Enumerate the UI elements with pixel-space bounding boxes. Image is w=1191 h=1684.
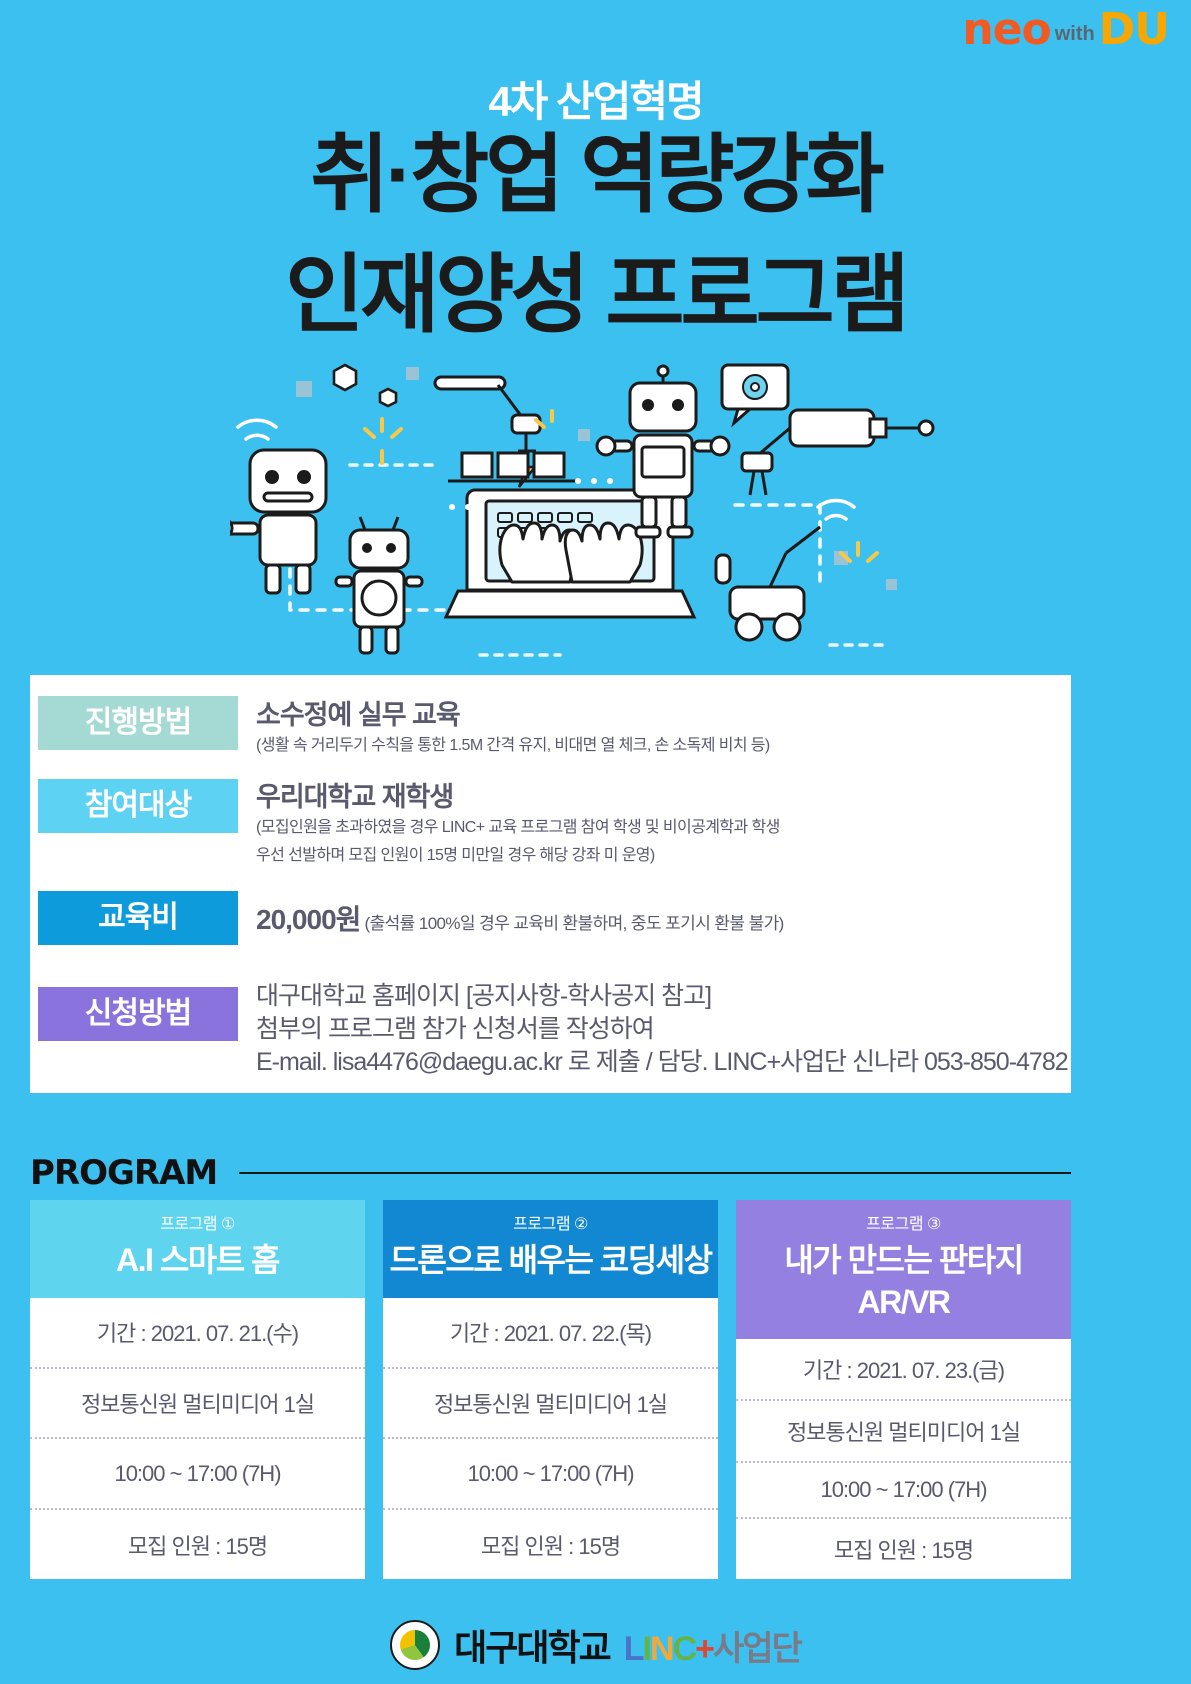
info-tag-target: 참여대상 bbox=[38, 779, 238, 833]
with-wordmark: with bbox=[1055, 24, 1095, 44]
info-body-fee: 20,000원 (출석률 100%일 경우 교육비 환불하며, 중도 포기시 환… bbox=[238, 870, 1071, 938]
daegu-university-name: 대구대학교 bbox=[454, 1619, 610, 1671]
info-row-method: 진행방법 소수정예 실무 교육 (생활 속 거리두기 수칙을 통한 1.5M 간… bbox=[30, 675, 1071, 771]
program-card-details: 기간 : 2021. 07. 23.(금) 정보통신원 멀티미디어 1실 10:… bbox=[736, 1339, 1071, 1579]
fee-note: (출석률 100%일 경우 교육비 환불하며, 중도 포기시 환불 불가) bbox=[365, 914, 784, 933]
footer-logos: 대구대학교 LINC+사업단 bbox=[0, 1606, 1191, 1684]
info-body-target: 우리대학교 재학생 (모집인원을 초과하였을 경우 LINC+ 교육 프로그램 … bbox=[238, 771, 1071, 870]
program-card-date: 기간 : 2021. 07. 21.(수) bbox=[30, 1298, 365, 1367]
linc-letter-c: C bbox=[673, 1630, 696, 1668]
program-heading-rule bbox=[239, 1172, 1071, 1174]
seal-inner-mark bbox=[400, 1630, 430, 1660]
info-row-apply: 신청방법 대구대학교 홈페이지 [공지사항-학사공지 참고] 첨부의 프로그램 … bbox=[30, 966, 1071, 1093]
program-card-details: 기간 : 2021. 07. 22.(목) 정보통신원 멀티미디어 1실 10:… bbox=[383, 1298, 718, 1580]
target-main-text: 우리대학교 재학생 bbox=[256, 771, 1071, 814]
linc-letter-n: N bbox=[650, 1630, 673, 1668]
program-card-list: 프로그램 ① A.I 스마트 홈 기간 : 2021. 07. 21.(수) 정… bbox=[30, 1200, 1071, 1579]
poster-root: neo with DU 4차 산업혁명 취·창업 역량강화 인재양성 프로그램 bbox=[0, 0, 1191, 1684]
fee-amount: 20,000원 bbox=[256, 904, 360, 935]
program-heading: PROGRAM bbox=[30, 1153, 1071, 1193]
linc-suffix: 사업단 bbox=[713, 1630, 801, 1668]
program-card-date: 기간 : 2021. 07. 22.(목) bbox=[383, 1298, 718, 1367]
title-line-2: 인재양성 프로그램 bbox=[0, 250, 1191, 340]
title-line-1: 취·창업 역량강화 bbox=[0, 130, 1191, 220]
info-body-apply: 대구대학교 홈페이지 [공지사항-학사공지 참고] 첨부의 프로그램 참가 신청… bbox=[238, 966, 1071, 1093]
info-body-method: 소수정예 실무 교육 (생활 속 거리두기 수칙을 통한 1.5M 간격 유지,… bbox=[238, 675, 1071, 760]
info-row-target: 참여대상 우리대학교 재학생 (모집인원을 초과하였을 경우 LINC+ 교육 … bbox=[30, 771, 1071, 870]
program-card-title: 내가 만드는 판타지 AR/VR bbox=[742, 1240, 1065, 1323]
target-sub-text-1: (모집인원을 초과하였을 경우 LINC+ 교육 프로그램 참여 학생 및 비이… bbox=[256, 814, 1071, 842]
program-card-place: 정보통신원 멀티미디어 1실 bbox=[736, 1399, 1071, 1461]
program-card-title: 드론으로 배우는 코딩세상 bbox=[389, 1240, 712, 1282]
method-main-text: 소수정예 실무 교육 bbox=[256, 675, 1071, 732]
du-wordmark: DU bbox=[1099, 10, 1169, 50]
program-card-number: 프로그램 ① bbox=[36, 1210, 359, 1234]
program-card-header: 프로그램 ③ 내가 만드는 판타지 AR/VR bbox=[736, 1200, 1071, 1339]
program-card[interactable]: 프로그램 ② 드론으로 배우는 코딩세상 기간 : 2021. 07. 22.(… bbox=[383, 1200, 718, 1579]
program-card-place: 정보통신원 멀티미디어 1실 bbox=[383, 1367, 718, 1438]
program-heading-label: PROGRAM bbox=[30, 1153, 217, 1193]
info-row-fee: 교육비 20,000원 (출석률 100%일 경우 교육비 환불하며, 중도 포… bbox=[30, 870, 1071, 966]
program-card[interactable]: 프로그램 ① A.I 스마트 홈 기간 : 2021. 07. 21.(수) 정… bbox=[30, 1200, 365, 1579]
neo-with-du-logo: neo with DU bbox=[962, 10, 1169, 50]
program-card-date: 기간 : 2021. 07. 23.(금) bbox=[736, 1339, 1071, 1399]
program-card-number: 프로그램 ③ bbox=[742, 1210, 1065, 1234]
info-panel: 진행방법 소수정예 실무 교육 (생활 속 거리두기 수칙을 통한 1.5M 간… bbox=[30, 675, 1071, 1093]
program-card-capacity: 모집 인원 : 15명 bbox=[383, 1508, 718, 1579]
target-sub-text-2: 우선 선발하며 모집 인원이 15명 미만일 경우 해당 강좌 미 운영) bbox=[256, 842, 1071, 870]
fee-line: 20,000원 (출석률 100%일 경우 교육비 환불하며, 중도 포기시 환… bbox=[256, 870, 1071, 938]
industry-robots-illustration bbox=[230, 355, 960, 675]
program-card-time: 10:00 ~ 17:00 (7H) bbox=[30, 1437, 365, 1508]
program-card-time: 10:00 ~ 17:00 (7H) bbox=[383, 1437, 718, 1508]
linc-plus-logo: LINC+사업단 bbox=[624, 1621, 801, 1670]
program-card-details: 기간 : 2021. 07. 21.(수) 정보통신원 멀티미디어 1실 10:… bbox=[30, 1298, 365, 1580]
program-card-title: A.I 스마트 홈 bbox=[36, 1240, 359, 1282]
linc-letter-i: I bbox=[643, 1630, 650, 1668]
apply-line-3: E-mail. lisa4476@daegu.ac.kr 로 제출 / 담당. … bbox=[256, 1046, 1071, 1079]
program-card[interactable]: 프로그램 ③ 내가 만드는 판타지 AR/VR 기간 : 2021. 07. 2… bbox=[736, 1200, 1071, 1579]
apply-line-1: 대구대학교 홈페이지 [공지사항-학사공지 참고] bbox=[256, 980, 1071, 1013]
program-card-capacity: 모집 인원 : 15명 bbox=[736, 1517, 1071, 1579]
program-card-header: 프로그램 ① A.I 스마트 홈 bbox=[30, 1200, 365, 1298]
title-eyebrow: 4차 산업혁명 bbox=[0, 68, 1191, 129]
program-card-number: 프로그램 ② bbox=[389, 1210, 712, 1234]
linc-letter-l: L bbox=[624, 1630, 643, 1668]
info-tag-fee: 교육비 bbox=[38, 891, 238, 945]
daegu-university-seal-icon bbox=[390, 1620, 440, 1670]
linc-letter-plus: + bbox=[695, 1630, 713, 1668]
program-card-header: 프로그램 ② 드론으로 배우는 코딩세상 bbox=[383, 1200, 718, 1298]
method-sub-text: (생활 속 거리두기 수칙을 통한 1.5M 간격 유지, 비대면 열 체크, … bbox=[256, 732, 1071, 760]
neo-wordmark: neo bbox=[962, 10, 1050, 50]
program-card-time: 10:00 ~ 17:00 (7H) bbox=[736, 1461, 1071, 1517]
program-card-capacity: 모집 인원 : 15명 bbox=[30, 1508, 365, 1579]
info-tag-method: 진행방법 bbox=[38, 696, 238, 750]
info-tag-apply: 신청방법 bbox=[38, 987, 238, 1041]
apply-line-2: 첨부의 프로그램 참가 신청서를 작성하여 bbox=[256, 1013, 1071, 1046]
program-card-place: 정보통신원 멀티미디어 1실 bbox=[30, 1367, 365, 1438]
